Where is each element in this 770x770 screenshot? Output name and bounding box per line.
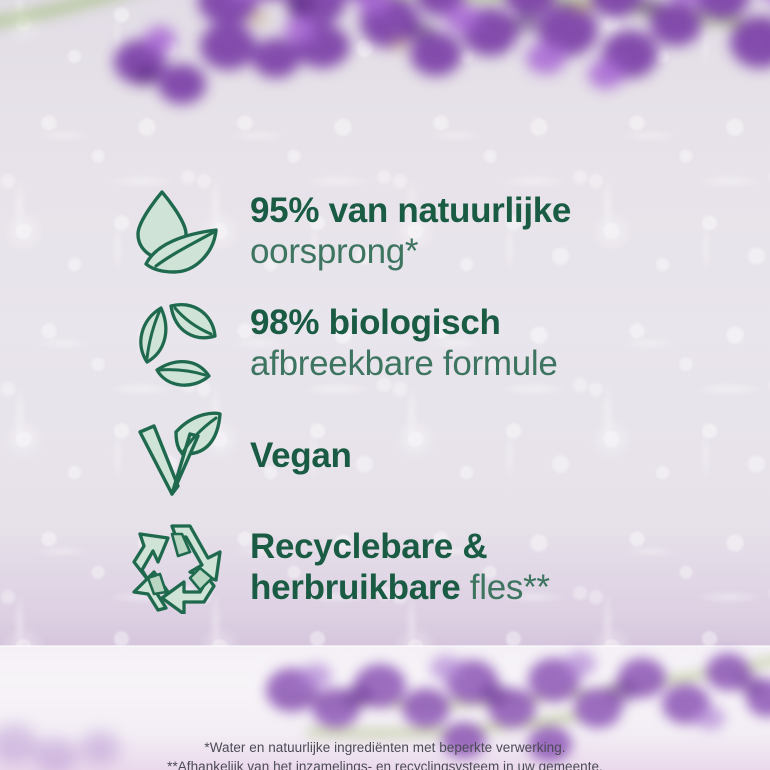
vegan-leaf-check-icon xyxy=(128,408,228,504)
feature-line-secondary-strong: herbruikbare xyxy=(250,568,460,607)
feature-line-primary: Recyclebare & xyxy=(250,527,550,568)
footnote-line-2: **Afhankelijk van het inzamelings- en re… xyxy=(0,757,770,770)
footnotes: *Water en natuurlijke ingrediënten met b… xyxy=(0,738,770,770)
feature-line-secondary: oorsprong* xyxy=(250,232,571,273)
three-leaves-circle-icon xyxy=(128,296,228,392)
feature-row: 98% biologisch afbreekbare formule xyxy=(128,288,688,400)
feature-line-secondary-light: fles** xyxy=(460,568,549,607)
feature-line-primary: 98% biologisch xyxy=(250,303,558,344)
feature-text: 95% van natuurlijke oorsprong* xyxy=(250,191,571,272)
feature-line-primary: Vegan xyxy=(250,436,352,477)
shelf-divider-line xyxy=(0,645,770,647)
feature-text: Vegan xyxy=(250,436,352,477)
feature-line-secondary: herbruikbare fles** xyxy=(250,568,550,609)
feature-line-secondary: afbreekbare formule xyxy=(250,344,558,385)
water-drop-leaf-icon xyxy=(128,184,228,280)
lavender-eco-claims-banner: 95% van natuurlijke oorsprong* xyxy=(0,0,770,770)
feature-row: 95% van natuurlijke oorsprong* xyxy=(128,176,688,288)
feature-row: Vegan xyxy=(128,400,688,512)
feature-text: 98% biologisch afbreekbare formule xyxy=(250,303,558,384)
footnote-line-1: *Water en natuurlijke ingrediënten met b… xyxy=(0,738,770,757)
recycling-arrows-icon xyxy=(128,520,228,616)
eco-claims-list: 95% van natuurlijke oorsprong* xyxy=(128,176,688,624)
feature-row: Recyclebare & herbruikbare fles** xyxy=(128,512,688,624)
feature-line-primary: 95% van natuurlijke xyxy=(250,191,571,232)
feature-text: Recyclebare & herbruikbare fles** xyxy=(250,527,550,608)
